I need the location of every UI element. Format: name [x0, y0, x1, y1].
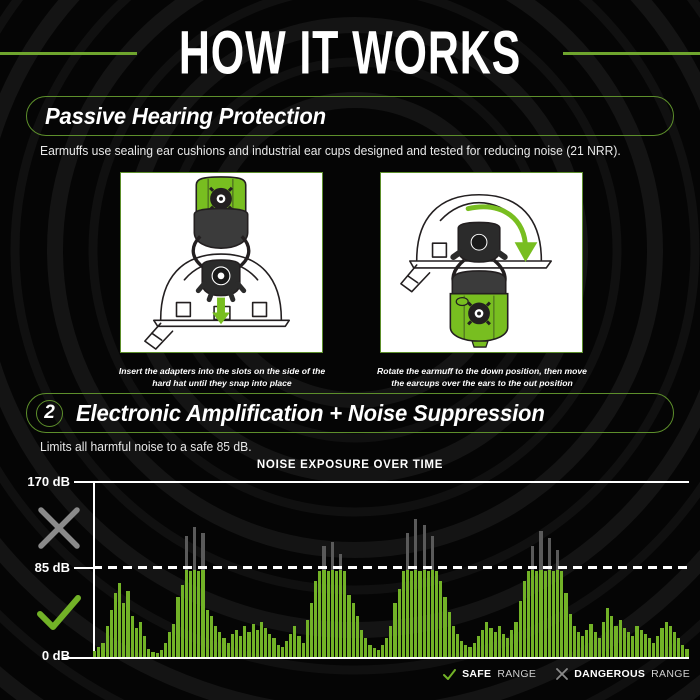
- chart-bar: [589, 624, 592, 657]
- chart-bar: [214, 626, 217, 657]
- chart-bar: [602, 622, 605, 657]
- illustration-panel-insert-adapters: [120, 172, 323, 353]
- chart-bar: [168, 632, 171, 657]
- chart-bar: [665, 622, 668, 657]
- chart-bar: [418, 571, 421, 657]
- chart-bar: [681, 645, 684, 657]
- chart-bar: [619, 620, 622, 657]
- chart-bar: [314, 581, 317, 657]
- chart-bar: [635, 626, 638, 657]
- chart-bar: [206, 610, 209, 657]
- chart-bar: [197, 571, 200, 657]
- chart-bar: [135, 628, 138, 657]
- chart-bar: [260, 622, 263, 657]
- chart-bar: [627, 632, 630, 657]
- check-icon: [443, 669, 456, 680]
- chart-bar: [527, 571, 530, 657]
- chart-bar: [97, 647, 100, 657]
- chart-bar: [118, 583, 121, 657]
- chart-bar: [569, 614, 572, 657]
- illustration-caption-left: Insert the adapters into the slots on th…: [110, 366, 334, 390]
- chart-bar: [606, 608, 609, 657]
- earmuff-rotate-down-icon: [381, 173, 582, 352]
- chart-bar: [406, 533, 409, 657]
- chart-bar: [302, 643, 305, 657]
- chart-bar: [431, 536, 434, 657]
- chart-bar: [156, 653, 159, 657]
- legend-safe-rest: RANGE: [497, 668, 536, 680]
- chart-bar: [327, 571, 330, 657]
- chart-bar: [552, 571, 555, 657]
- y-tick-170: [74, 481, 94, 483]
- legend-dangerous-rest: RANGE: [651, 668, 690, 680]
- chart-bar: [385, 638, 388, 657]
- chart-bar: [106, 626, 109, 657]
- chart-bar: [677, 638, 680, 657]
- chart-bar: [335, 571, 338, 657]
- chart-bar: [139, 622, 142, 657]
- chart-plot-area: [93, 482, 689, 657]
- chart-bar: [631, 636, 634, 657]
- chart-bar: [364, 638, 367, 657]
- chart-bar: [147, 649, 150, 657]
- legend-safe-strong: SAFE: [462, 668, 491, 680]
- chart-bar: [448, 612, 451, 657]
- chart-bar: [494, 632, 497, 657]
- chart-bar: [243, 626, 246, 657]
- chart-bar: [523, 581, 526, 657]
- chart-bar: [272, 638, 275, 657]
- y-axis-label-0: 0 dB: [0, 648, 70, 663]
- chart-bar: [610, 616, 613, 657]
- chart-bar: [452, 626, 455, 657]
- chart-bar: [189, 571, 192, 657]
- chart-bar: [252, 624, 255, 657]
- chart-bar: [614, 626, 617, 657]
- chart-bar: [347, 595, 350, 657]
- x-icon: [556, 668, 568, 680]
- chart-bar: [514, 622, 517, 657]
- chart-bar: [427, 571, 430, 657]
- chart-bar: [398, 589, 401, 657]
- chart-bar: [381, 645, 384, 657]
- legend-dangerous-strong: DANGEROUS: [574, 668, 645, 680]
- chart-bar: [443, 597, 446, 657]
- chart-bar: [468, 647, 471, 657]
- chart-bar: [181, 585, 184, 657]
- chart-bar: [531, 546, 534, 657]
- chart-bar: [560, 571, 563, 657]
- chart-bar: [160, 650, 163, 657]
- chart-bar: [414, 519, 417, 657]
- chart-bar: [644, 634, 647, 657]
- chart-bar: [110, 610, 113, 657]
- chart-bar: [673, 632, 676, 657]
- chart-bar: [473, 643, 476, 657]
- chart-bar: [389, 626, 392, 657]
- chart-bar: [393, 603, 396, 657]
- chart-bar: [485, 622, 488, 657]
- chart-bar: [176, 597, 179, 657]
- page-title: HOW IT WORKS: [179, 18, 521, 89]
- chart-bar: [656, 636, 659, 657]
- chart-bar: [623, 628, 626, 657]
- chart-bar: [285, 641, 288, 657]
- chart-bar: [185, 536, 188, 657]
- chart-bar: [101, 643, 104, 657]
- chart-bar: [297, 636, 300, 657]
- section-1-title: Passive Hearing Protection: [45, 103, 326, 130]
- chart-bar: [577, 632, 580, 657]
- chart-bar: [506, 638, 509, 657]
- chart-bar: [93, 651, 96, 657]
- chart-bar: [477, 636, 480, 657]
- chart-bar: [322, 546, 325, 657]
- illustration-panel-rotate-earmuff: [380, 172, 583, 353]
- chart-bar: [306, 620, 309, 657]
- legend-item-dangerous: DANGEROUS RANGE: [556, 668, 690, 680]
- chart-bar: [535, 571, 538, 657]
- chart-bar: [669, 626, 672, 657]
- chart-bar: [685, 649, 688, 657]
- chart-bar: [464, 645, 467, 657]
- chart-bar: [539, 531, 542, 657]
- check-mark-safe-icon: [36, 592, 82, 634]
- chart-bar: [222, 638, 225, 657]
- chart-bar: [235, 630, 238, 657]
- chart-bar: [277, 645, 280, 657]
- chart-bar: [310, 603, 313, 657]
- chart-bar: [193, 527, 196, 657]
- chart-bar: [648, 638, 651, 657]
- chart-bar: [519, 601, 522, 657]
- chart-bar: [585, 630, 588, 657]
- y-axis-label-85: 85 dB: [0, 560, 70, 575]
- chart-bar: [264, 628, 267, 657]
- chart-bar: [402, 571, 405, 657]
- chart-bar: [143, 636, 146, 657]
- section-1-header: Passive Hearing Protection: [26, 96, 674, 136]
- section-2-subtitle: Limits all harmful noise to a safe 85 dB…: [40, 440, 252, 454]
- chart-bar: [598, 638, 601, 657]
- chart-bar: [373, 648, 376, 657]
- y-axis-label-170: 170 dB: [0, 474, 70, 489]
- legend-item-safe: SAFE RANGE: [443, 668, 536, 680]
- chart-bar: [502, 634, 505, 657]
- chart-threshold-85db: [93, 566, 689, 569]
- chart-bar: [489, 628, 492, 657]
- chart-bar: [360, 630, 363, 657]
- chart-bar: [172, 624, 175, 657]
- chart-bar: [544, 571, 547, 657]
- page-title-row: HOW IT WORKS: [0, 22, 700, 84]
- hard-hat-adapter-insert-icon: [121, 173, 322, 352]
- y-tick-85: [74, 567, 94, 569]
- chart-bar: [377, 650, 380, 657]
- chart-bar: [331, 542, 334, 657]
- chart-bar: [343, 571, 346, 657]
- chart-bar: [114, 593, 117, 657]
- chart-bar: [218, 632, 221, 657]
- chart-bar: [564, 593, 567, 657]
- chart-bar: [231, 634, 234, 657]
- chart-bar: [456, 634, 459, 657]
- chart-title: NOISE EXPOSURE OVER TIME: [0, 459, 700, 471]
- x-mark-dangerous-icon: [36, 505, 82, 551]
- title-rule-left: [0, 52, 137, 55]
- chart-bar: [281, 647, 284, 657]
- chart-bar: [126, 591, 129, 657]
- chart-axis-x: [62, 657, 689, 659]
- chart-bar: [581, 636, 584, 657]
- chart-bar: [481, 630, 484, 657]
- chart-bar: [151, 652, 154, 657]
- chart-bar: [594, 632, 597, 657]
- chart-bar: [368, 645, 371, 657]
- chart-bar: [435, 571, 438, 657]
- chart-bar: [510, 630, 513, 657]
- chart-bar: [164, 643, 167, 657]
- chart-bar: [201, 533, 204, 657]
- chart-bar: [573, 626, 576, 657]
- chart-bar: [439, 581, 442, 657]
- chart-bar: [210, 616, 213, 657]
- chart-bars: [93, 482, 689, 657]
- chart-bar: [256, 630, 259, 657]
- chart-bar: [289, 634, 292, 657]
- chart-bar: [247, 632, 250, 657]
- chart-bar: [318, 571, 321, 657]
- chart-bar: [131, 616, 134, 657]
- chart-bar: [498, 626, 501, 657]
- chart-bar: [423, 525, 426, 657]
- chart-bar: [640, 630, 643, 657]
- chart-bar: [460, 641, 463, 657]
- chart-bar: [352, 603, 355, 657]
- chart-bar: [652, 643, 655, 657]
- chart-bar: [122, 603, 125, 657]
- section-1-subtitle: Earmuffs use sealing ear cushions and in…: [40, 144, 621, 158]
- title-rule-right: [563, 52, 700, 55]
- chart-bar: [548, 538, 551, 657]
- section-2-title: Electronic Amplification + Noise Suppres…: [76, 400, 545, 427]
- chart-bar: [293, 626, 296, 657]
- section-2-header: 2 Electronic Amplification + Noise Suppr…: [26, 393, 674, 433]
- section-2-number: 2: [36, 400, 63, 427]
- illustration-caption-right: Rotate the earmuff to the down position,…: [370, 366, 594, 390]
- chart-bar: [356, 616, 359, 657]
- chart-legend: SAFE RANGE DANGEROUS RANGE: [0, 668, 690, 680]
- chart-bar: [410, 571, 413, 657]
- chart-bar: [268, 634, 271, 657]
- chart-bar: [227, 643, 230, 657]
- chart-bar: [339, 554, 342, 657]
- chart-bar: [239, 636, 242, 657]
- chart-bar: [660, 628, 663, 657]
